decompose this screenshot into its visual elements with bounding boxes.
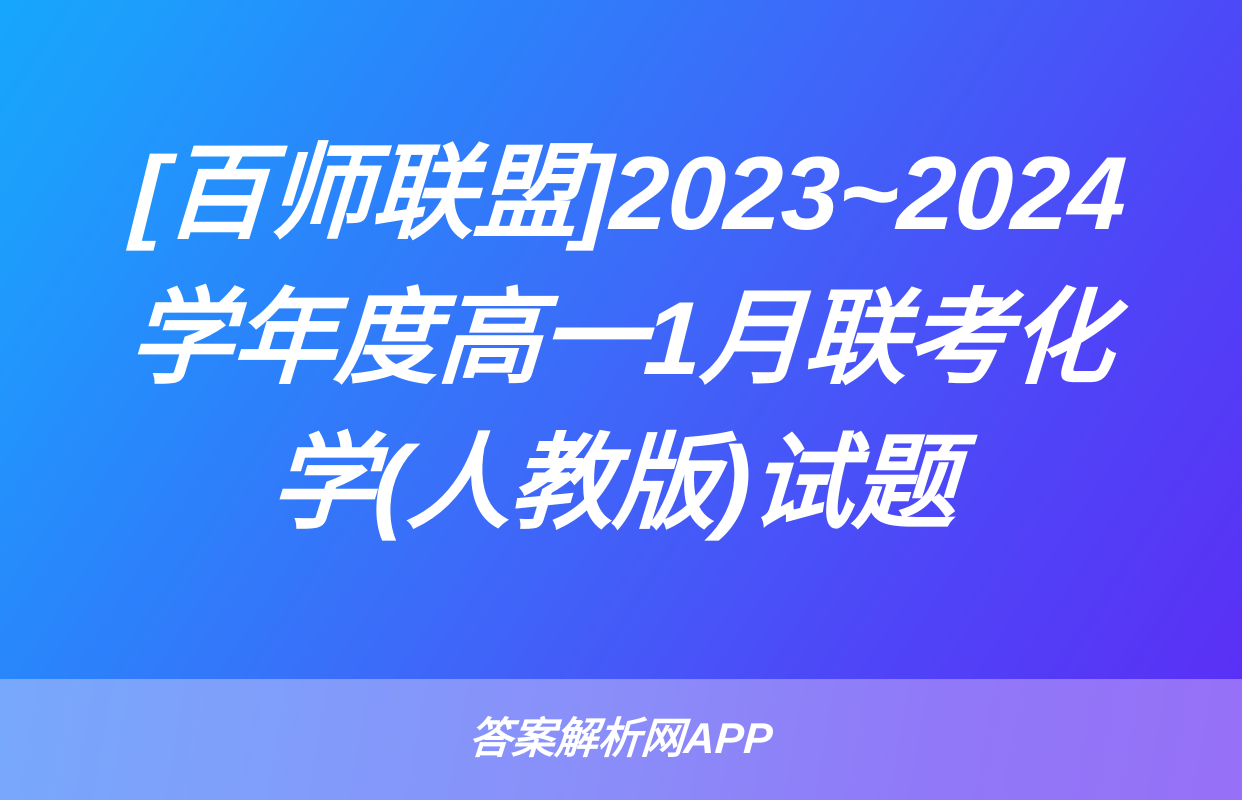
app-watermark-bar: 答案解析网APP	[0, 679, 1242, 800]
app-brand-label: 答案解析网APP	[468, 718, 774, 761]
page-title: [百师联盟]2023~2024学年度高一1月联考化学(人教版)试题	[90, 122, 1153, 557]
hero-gradient-banner: [百师联盟]2023~2024学年度高一1月联考化学(人教版)试题	[0, 0, 1242, 679]
exam-paper-cover-poster: [百师联盟]2023~2024学年度高一1月联考化学(人教版)试题 答案解析网A…	[0, 0, 1242, 800]
